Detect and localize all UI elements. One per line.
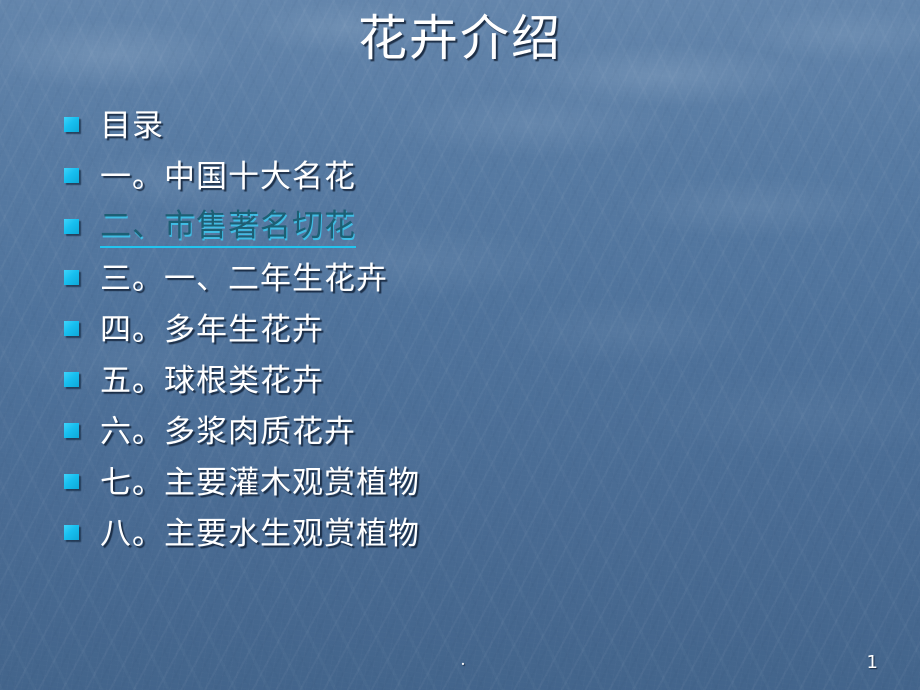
outline-item-label: 七。主要灌木观赏植物 xyxy=(100,464,420,502)
outline-item-label: 六。多浆肉质花卉 xyxy=(100,413,356,451)
square-bullet-icon xyxy=(64,219,79,234)
outline-item-label: 一。中国十大名花 xyxy=(100,158,356,196)
list-item: 七。主要灌木观赏植物 xyxy=(58,457,878,508)
square-bullet-icon xyxy=(64,117,79,132)
square-bullet-icon xyxy=(64,168,79,183)
list-item: 四。多年生花卉 xyxy=(58,304,878,355)
page-number: 1 xyxy=(867,652,878,674)
square-bullet-icon xyxy=(64,321,79,336)
list-item: 八。主要水生观赏植物 xyxy=(58,508,878,559)
outline-list: 目录一。中国十大名花二、市售著名切花三。一、二年生花卉四。多年生花卉五。球根类花… xyxy=(58,100,878,559)
outline-item-label: 三。一、二年生花卉 xyxy=(100,260,388,298)
outline-item-label: 目录 xyxy=(100,107,164,145)
list-item: 三。一、二年生花卉 xyxy=(58,253,878,304)
square-bullet-icon xyxy=(64,423,79,438)
square-bullet-icon xyxy=(64,372,79,387)
presentation-slide: 花卉介绍 目录一。中国十大名花二、市售著名切花三。一、二年生花卉四。多年生花卉五… xyxy=(0,0,920,690)
list-item[interactable]: 二、市售著名切花 xyxy=(58,202,878,253)
square-bullet-icon xyxy=(64,474,79,489)
outline-item-label: 八。主要水生观赏植物 xyxy=(100,515,420,553)
list-item: 一。中国十大名花 xyxy=(58,151,878,202)
square-bullet-icon xyxy=(64,525,79,540)
outline-item-label: 五。球根类花卉 xyxy=(100,362,324,400)
list-item: 五。球根类花卉 xyxy=(58,355,878,406)
outline-hyperlink[interactable]: 二、市售著名切花 xyxy=(100,207,356,248)
page-title: 花卉介绍 xyxy=(0,8,920,70)
outline-item-label: 四。多年生花卉 xyxy=(100,311,324,349)
square-bullet-icon xyxy=(64,270,79,285)
list-item: 六。多浆肉质花卉 xyxy=(58,406,878,457)
list-item: 目录 xyxy=(58,100,878,151)
footer-center-mark: . xyxy=(452,650,474,670)
